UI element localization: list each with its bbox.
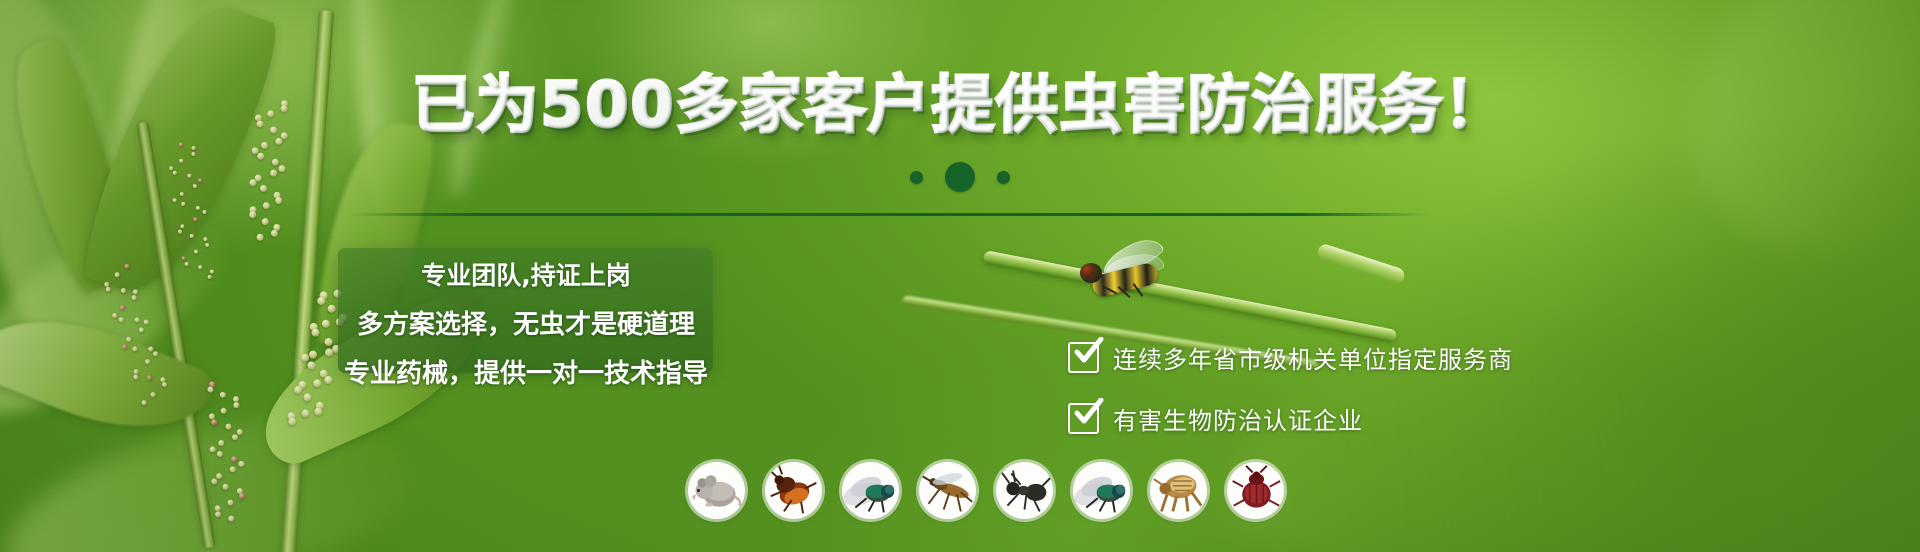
divider [350, 213, 1430, 216]
feature-line-3: 专业药械，提供一对一技术指导 [344, 353, 708, 390]
blowfly-icon[interactable] [1073, 462, 1130, 519]
promo-banner: 已为500多家客户提供虫害防治服务！ 专业团队,持证上岗 多方案选择，无虫才是硬… [0, 0, 1920, 552]
feature-panel-text: 专业团队,持证上岗 多方案选择，无虫才是硬道理 专业药械，提供一对一技术指导 [330, 256, 722, 390]
credentials-list: 连续多年省市级机关单位指定服务商 有害生物防治认证企业 [1068, 340, 1513, 436]
checkbox-checked-icon [1068, 342, 1099, 373]
checkbox-checked-icon [1068, 403, 1099, 434]
cockroach-icon[interactable] [765, 462, 822, 519]
list-item: 有害生物防治认证企业 [1068, 401, 1513, 436]
flea-icon[interactable] [1150, 462, 1207, 519]
fly-icon[interactable] [842, 462, 899, 519]
ant-icon[interactable] [996, 462, 1053, 519]
mosquito-icon[interactable] [919, 462, 976, 519]
dot-large-icon [945, 162, 975, 192]
bedbug-icon[interactable] [1227, 462, 1284, 519]
feature-line-2: 多方案选择，无虫才是硬道理 [357, 304, 695, 341]
feature-line-1: 专业团队,持证上岗 [421, 256, 631, 292]
credential-label: 连续多年省市级机关单位指定服务商 [1113, 340, 1513, 375]
headline-text: 已为500多家客户提供虫害防治服务！ [412, 68, 1507, 141]
credential-label: 有害生物防治认证企业 [1113, 401, 1363, 436]
mouse-icon[interactable] [688, 462, 745, 519]
pest-icon-strip [688, 462, 1284, 519]
dot-small-icon [997, 171, 1010, 184]
dot-small-icon [910, 171, 923, 184]
decorative-dots [0, 162, 1920, 192]
list-item: 连续多年省市级机关单位指定服务商 [1068, 340, 1513, 375]
page-title: 已为500多家客户提供虫害防治服务！ [0, 74, 1920, 136]
